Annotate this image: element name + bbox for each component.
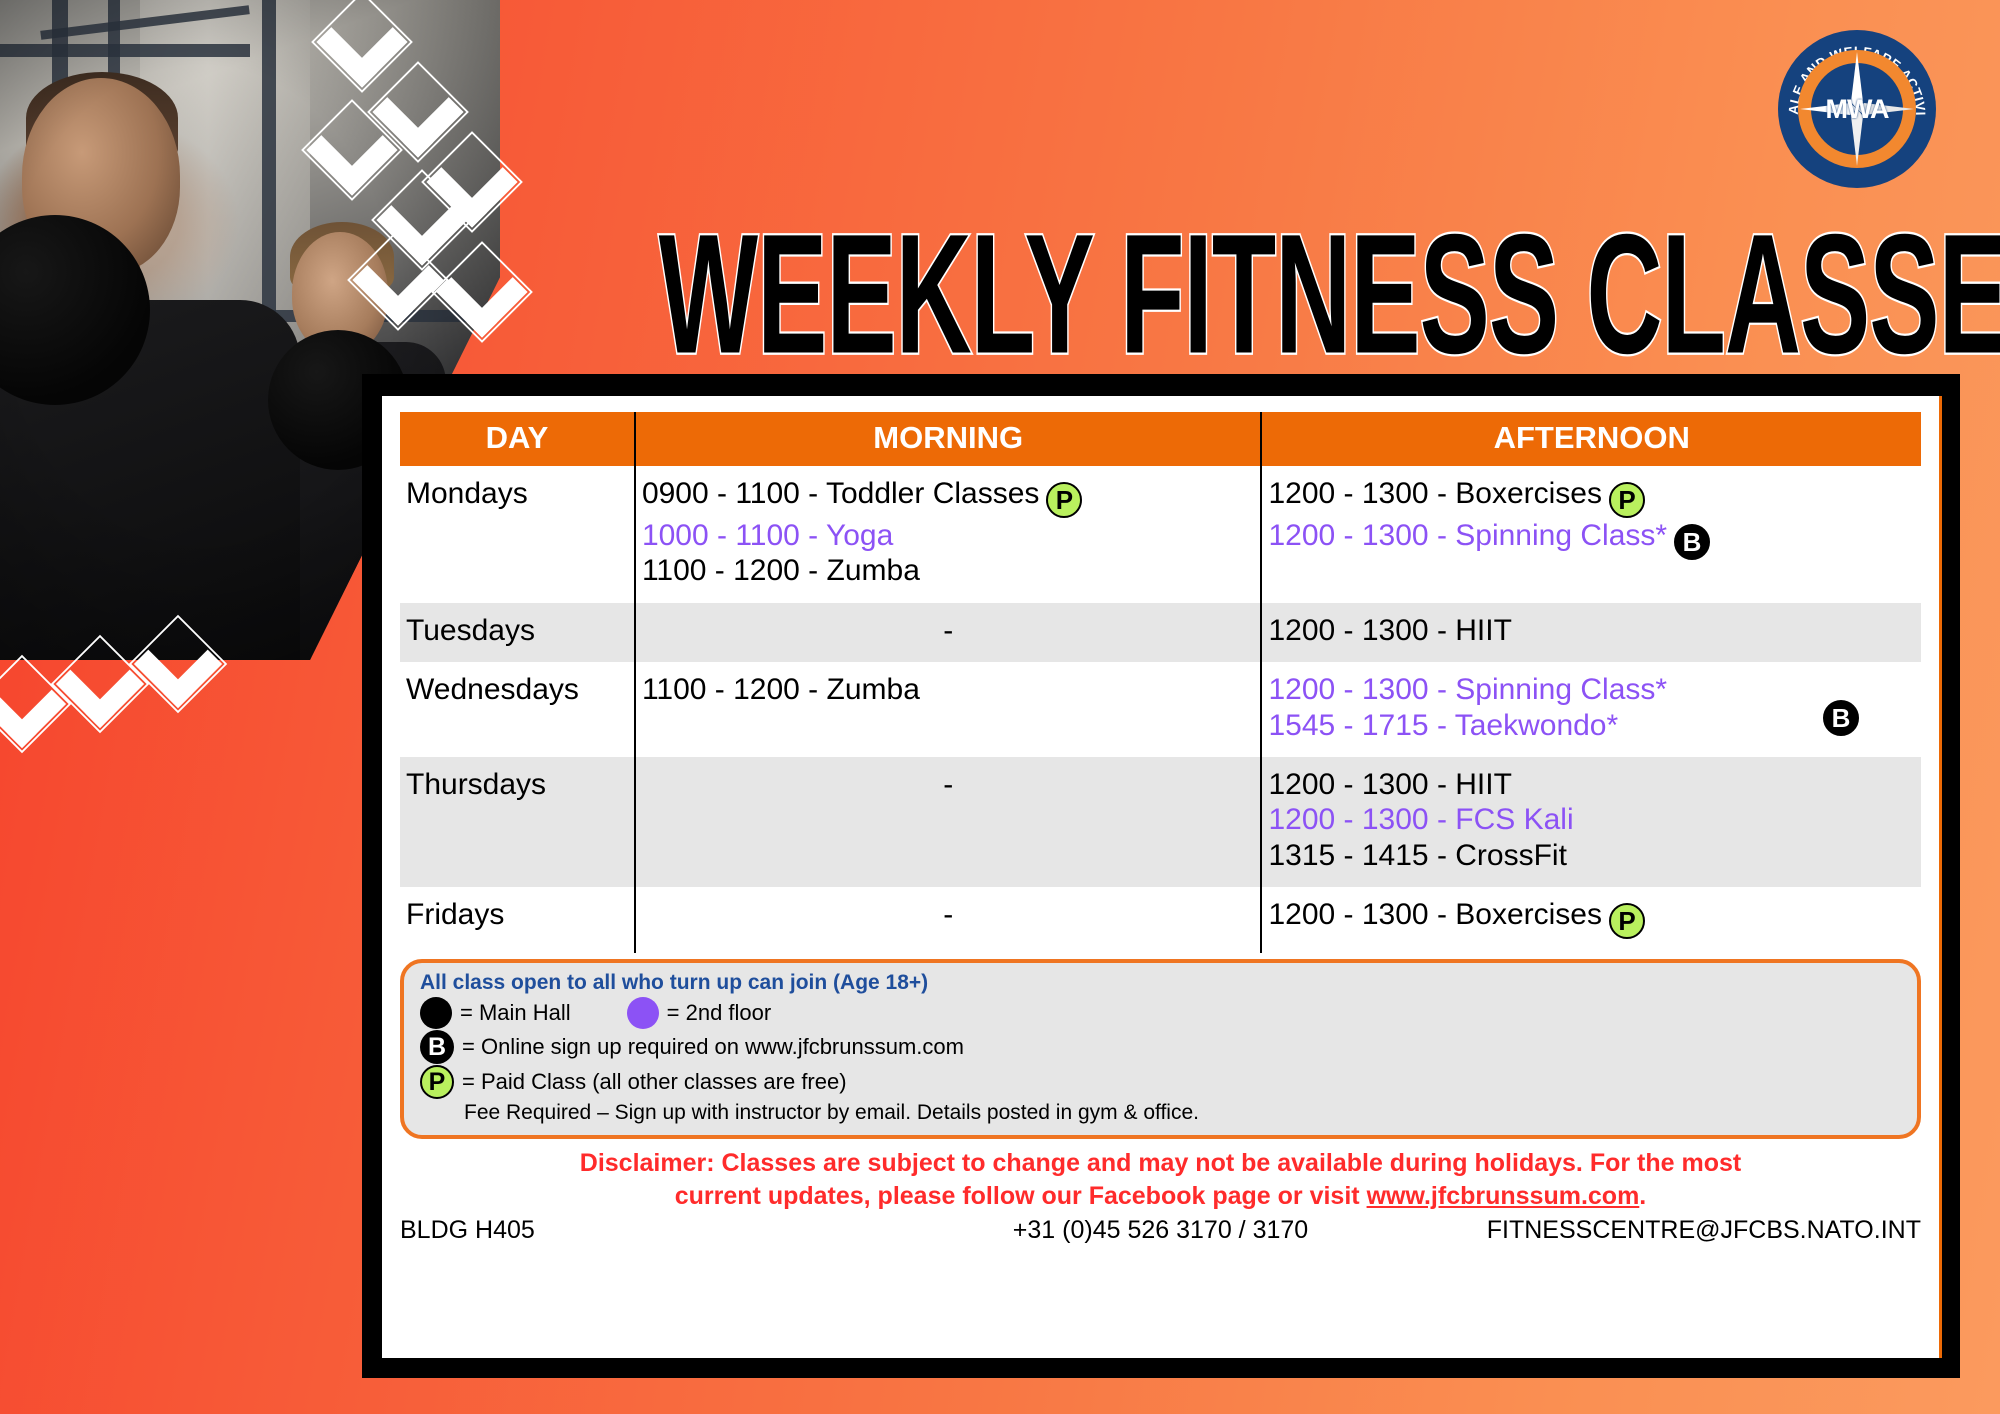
afternoon-cell: 1200 - 1300 - BoxercisesP [1261,887,1921,953]
class-entry-text: 1000 - 1100 - Yoga [642,519,893,552]
class-entry-text: - [943,768,953,801]
content-panel: DAY MORNING AFTERNOON Mondays0900 - 1100… [382,396,1942,1358]
class-entry-text: 1200 - 1300 - Spinning Class* [1268,519,1667,552]
day-cell: Tuesdays [400,603,635,662]
table-row: Thursdays-1200 - 1300 - HIIT1200 - 1300 … [400,757,1921,887]
legend-heading: All class open to all who turn up can jo… [420,971,1903,995]
page-title: WEEKLY FITNESS CLASSES [659,196,1872,392]
class-entry: 1545 - 1715 - Taekwondo* [1268,708,1915,743]
class-entry: 1200 - 1300 - Spinning Class*B [1268,518,1915,560]
class-list: - [642,897,1255,932]
main-hall-dot-icon [420,997,452,1029]
morning-cell: 0900 - 1100 - Toddler ClassesP1000 - 110… [635,466,1262,603]
content-panel-frame: DAY MORNING AFTERNOON Mondays0900 - 1100… [362,374,1960,1378]
second-floor-dot-icon [627,997,659,1029]
day-label: Wednesdays [406,673,579,706]
class-list: 1200 - 1300 - HIIT1200 - 1300 - FCS Kali… [1268,767,1915,873]
paid-class-badge: P [1609,903,1645,939]
class-entry: 1315 - 1415 - CrossFit [1268,838,1915,873]
day-label: Mondays [406,477,528,510]
day-cell: Mondays [400,466,635,603]
mwa-logo: MORALE AND WELFARE ACTIVITIES JFC BRUNSS… [1778,30,1936,188]
day-cell: Wednesdays [400,662,635,757]
class-list: - [642,613,1255,648]
class-entry: 0900 - 1100 - Toddler ClassesP [642,476,1255,518]
table-row: Wednesdays1100 - 1200 - Zumba1200 - 1300… [400,662,1921,757]
column-header-day: DAY [400,412,635,466]
legend-row-paid: P = Paid Class (all other classes are fr… [420,1065,1903,1099]
class-entry-text: 1200 - 1300 - Spinning Class* [1268,673,1667,706]
afternoon-cell: 1200 - 1300 - BoxercisesP1200 - 1300 - S… [1261,466,1921,603]
class-entry-text: - [943,898,953,931]
footer: BLDG H405 +31 (0)45 526 3170 / 3170 FITN… [400,1216,1921,1245]
schedule-table: DAY MORNING AFTERNOON Mondays0900 - 1100… [400,412,1921,953]
class-entry: 1100 - 1200 - Zumba [642,672,1255,707]
no-class-dash: - [642,767,1255,802]
footer-building: BLDG H405 [400,1216,887,1245]
legend-main-hall-label: = Main Hall [460,1000,571,1026]
class-list: 1100 - 1200 - Zumba [642,672,1255,707]
class-list: 1200 - 1300 - BoxercisesP1200 - 1300 - S… [1268,476,1915,560]
logo-mwa-text: MWA [1826,94,1889,125]
morning-cell: - [635,603,1262,662]
poster-root: MORALE AND WELFARE ACTIVITIES JFC BRUNSS… [0,0,2000,1414]
no-class-dash: - [642,613,1255,648]
legend-row-locations: = Main Hall = 2nd floor [420,997,1903,1029]
disclaimer-website-link[interactable]: www.jfcbrunssum.com [1367,1182,1640,1210]
legend-booking-label: = Online sign up required on www.jfcbrun… [462,1034,964,1060]
class-entry-text: 1200 - 1300 - Boxercises [1268,898,1602,931]
class-entry: 1200 - 1300 - Spinning Class* [1268,672,1915,707]
class-entry-text: 1200 - 1300 - Boxercises [1268,477,1602,510]
disclaimer-line-two-prefix: current updates, please follow our Faceb… [675,1182,1367,1210]
disclaimer-line-one: Disclaimer: Classes are subject to chang… [580,1149,1741,1177]
paid-class-badge: P [1609,482,1645,518]
column-header-morning: MORNING [635,412,1262,466]
disclaimer: Disclaimer: Classes are subject to chang… [400,1147,1921,1212]
class-entry: 1100 - 1200 - Zumba [642,553,1255,588]
class-entry-text: 1200 - 1300 - HIIT [1268,614,1511,647]
class-entry: 1000 - 1100 - Yoga [642,518,1255,553]
morning-cell: - [635,887,1262,953]
afternoon-cell: 1200 - 1300 - Spinning Class*1545 - 1715… [1261,662,1921,757]
b-badge-icon: B [420,1030,454,1064]
table-row: Mondays0900 - 1100 - Toddler ClassesP100… [400,466,1921,603]
class-entry-text: 1315 - 1415 - CrossFit [1268,839,1566,872]
class-entry: 1200 - 1300 - FCS Kali [1268,802,1915,837]
class-entry: 1200 - 1300 - HIIT [1268,767,1915,802]
morning-cell: - [635,757,1262,887]
footer-phone: +31 (0)45 526 3170 / 3170 [887,1216,1435,1245]
disclaimer-line-two-suffix: . [1639,1182,1646,1210]
class-entry-text: 1545 - 1715 - Taekwondo* [1268,709,1618,742]
class-entry: 1200 - 1300 - HIIT [1268,613,1915,648]
class-entry: 1200 - 1300 - BoxercisesP [1268,476,1915,518]
table-row: Fridays-1200 - 1300 - BoxercisesP [400,887,1921,953]
legend-box: All class open to all who turn up can jo… [400,959,1921,1139]
class-list: 1200 - 1300 - BoxercisesP [1268,897,1915,939]
legend-paid-label: = Paid Class (all other classes are free… [462,1069,847,1095]
day-label: Thursdays [406,768,546,801]
morning-cell: 1100 - 1200 - Zumba [635,662,1262,757]
legend-second-floor-label: = 2nd floor [667,1000,772,1026]
class-entry-text: 0900 - 1100 - Toddler Classes [642,477,1039,510]
booking-required-badge: B [1674,524,1710,560]
legend-row-booking: B = Online sign up required on www.jfcbr… [420,1030,1903,1064]
class-entry-text: 1100 - 1200 - Zumba [642,554,920,587]
p-badge-icon: P [420,1065,454,1099]
legend-fee-note: Fee Required – Sign up with instructor b… [420,1101,1903,1125]
no-class-dash: - [642,897,1255,932]
class-entry: 1200 - 1300 - BoxercisesP [1268,897,1915,939]
day-cell: Thursdays [400,757,635,887]
day-label: Tuesdays [406,614,535,647]
class-list: 1200 - 1300 - HIIT [1268,613,1915,648]
booking-required-badge: B [1823,700,1859,736]
class-entry-text: 1100 - 1200 - Zumba [642,673,920,706]
class-entry-text: 1200 - 1300 - FCS Kali [1268,803,1573,836]
table-row: Tuesdays-1200 - 1300 - HIIT [400,603,1921,662]
class-list: 1200 - 1300 - Spinning Class*1545 - 1715… [1268,672,1915,743]
table-header-row: DAY MORNING AFTERNOON [400,412,1921,466]
class-list: 0900 - 1100 - Toddler ClassesP1000 - 110… [642,476,1255,589]
paid-class-badge: P [1046,482,1082,518]
column-header-afternoon: AFTERNOON [1261,412,1921,466]
chevron-icon [0,660,66,748]
class-list: - [642,767,1255,802]
class-entry-text: 1200 - 1300 - HIIT [1268,768,1511,801]
afternoon-cell: 1200 - 1300 - HIIT1200 - 1300 - FCS Kali… [1261,757,1921,887]
day-label: Fridays [406,898,504,931]
class-entry-text: - [943,614,953,647]
day-cell: Fridays [400,887,635,953]
afternoon-cell: 1200 - 1300 - HIIT [1261,603,1921,662]
footer-email: FITNESSCENTRE@JFCBS.NATO.INT [1434,1216,1921,1245]
